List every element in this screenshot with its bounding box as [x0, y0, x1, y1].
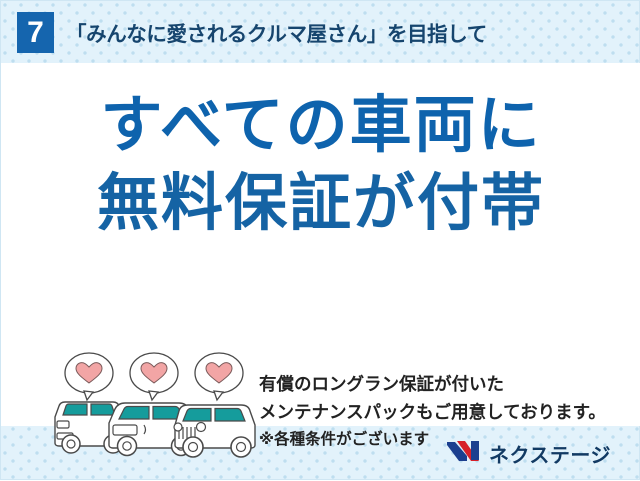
body-line-2: メンテナンスパックもご用意しております。	[259, 398, 639, 426]
warranty-promo-banner: 7 「みんなに愛されるクルマ屋さん」を目指して すべての車両に 無料保証が付帯	[0, 0, 640, 480]
headline-block: すべての車両に 無料保証が付帯	[1, 95, 640, 235]
logo-text: ネクステージ	[489, 439, 611, 468]
section-number-badge: 7	[17, 12, 54, 53]
banner-header: 7 「みんなに愛されるクルマ屋さん」を目指して	[1, 1, 640, 63]
body-line-1: 有償のロングラン保証が付いた	[259, 370, 639, 398]
nextstage-logo: ネクステージ	[445, 439, 611, 468]
heart-bubble-3	[195, 353, 243, 400]
heart-bubble-2	[130, 353, 178, 400]
heart-bubble-1	[65, 353, 113, 400]
logo-n-mark-icon	[445, 439, 481, 468]
headline-line-2: 無料保証が付帯	[1, 173, 640, 235]
content-card: すべての車両に 無料保証が付帯	[1, 63, 640, 426]
headline-line-1: すべての車両に	[1, 95, 640, 157]
banner-footer: ネクステージ	[1, 426, 640, 481]
header-title: 「みんなに愛されるクルマ屋さん」を目指して	[66, 17, 487, 47]
